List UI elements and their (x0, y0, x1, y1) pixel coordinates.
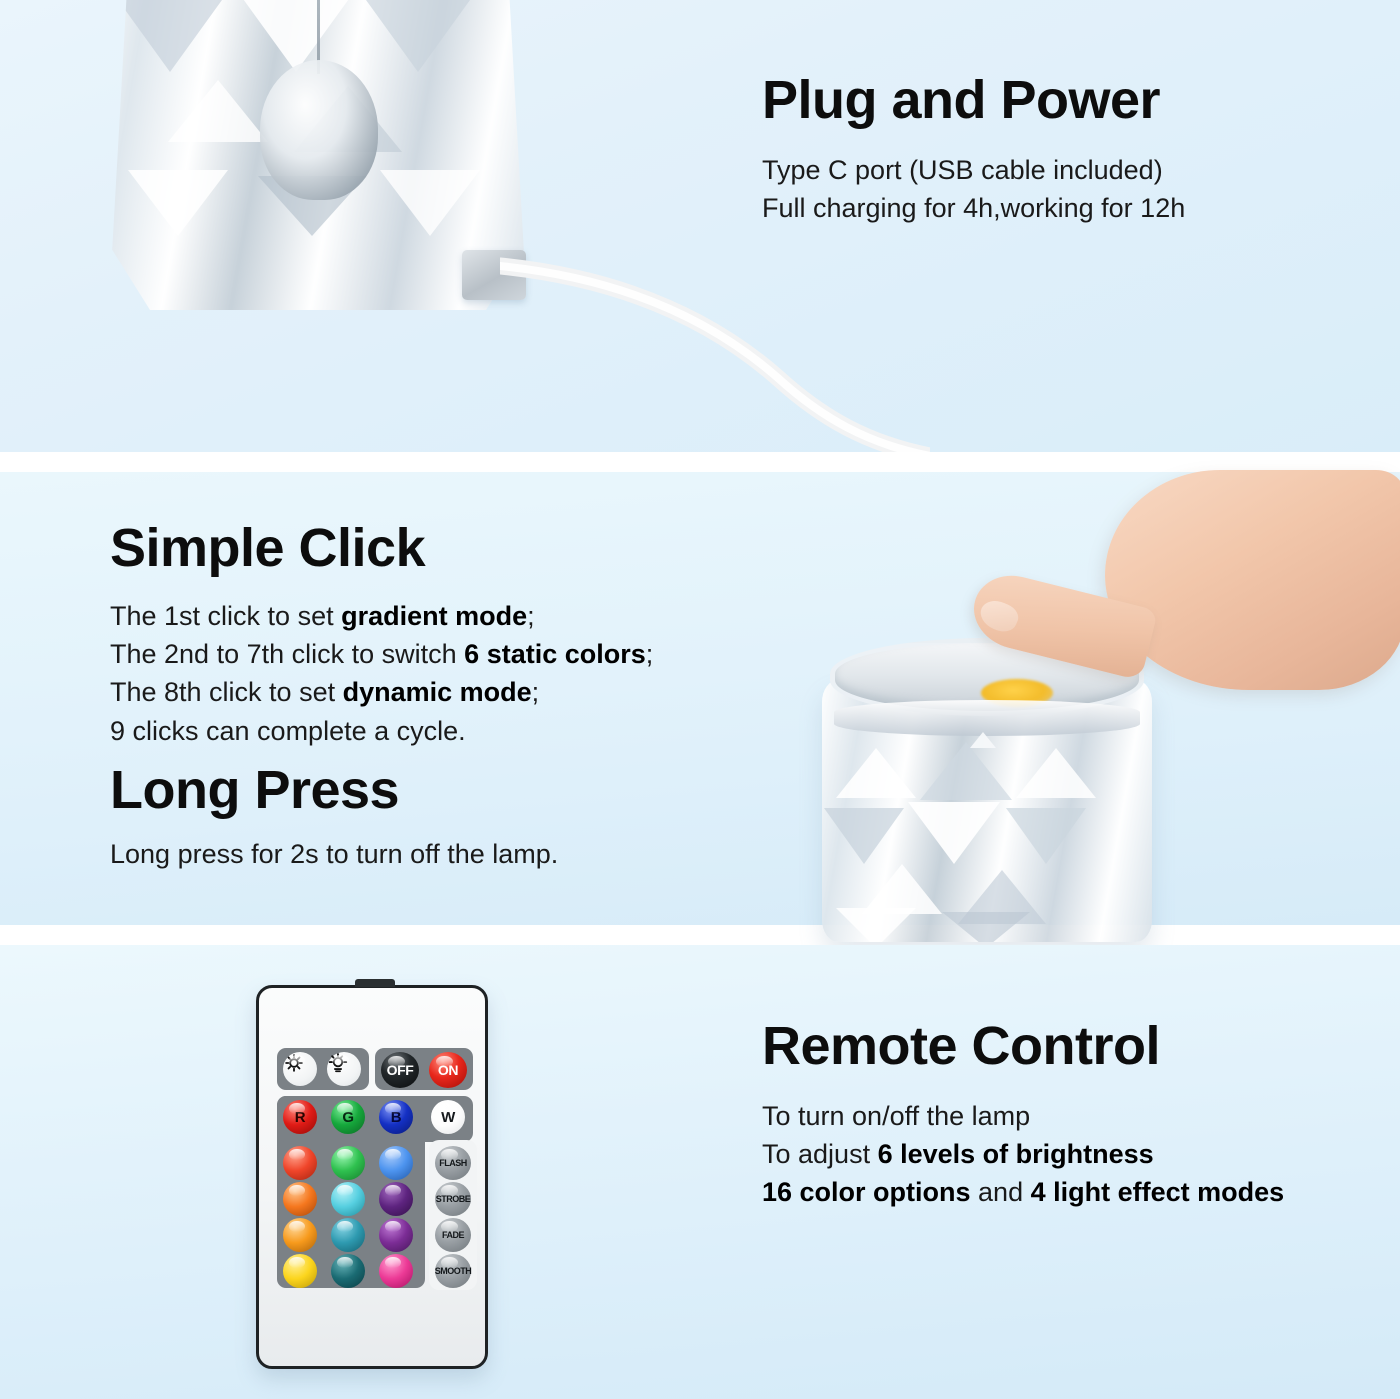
remote-line-3-bold-1: 16 color options (762, 1177, 971, 1207)
long-press-heading: Long Press (110, 762, 558, 819)
click-line-2-bold: 6 static colors (464, 639, 646, 669)
click-line-1-post: ; (527, 601, 535, 631)
color-button-green-g[interactable]: G (331, 1100, 365, 1134)
color-button-dark-purple[interactable] (379, 1182, 413, 1216)
strobe-label: STROBE (435, 1182, 471, 1216)
remote-line-3-mid: and (971, 1177, 1031, 1207)
fade-label: FADE (435, 1218, 471, 1252)
color-label-r: R (283, 1100, 317, 1134)
power-off-button[interactable]: OFF (381, 1052, 419, 1088)
color-button-purple[interactable] (379, 1218, 413, 1252)
effect-button-fade[interactable]: FADE (435, 1218, 471, 1252)
lamp-collar (834, 700, 1140, 736)
color-button-cyan[interactable] (331, 1182, 365, 1216)
click-line-3-pre: The 8th click to set (110, 677, 343, 707)
lamp-indicator-notch (970, 732, 996, 748)
usb-cable (500, 252, 930, 452)
effect-button-flash[interactable]: FLASH (435, 1146, 471, 1180)
lamp-touch-image (812, 638, 1164, 938)
plug-text-block: Plug and Power Type C port (USB cable in… (762, 72, 1185, 227)
click-line-1-bold: gradient mode (341, 601, 527, 631)
panel-plug-and-power: Plug and Power Type C port (USB cable in… (0, 0, 1400, 452)
remote-line-2-bold: 6 levels of brightness (878, 1139, 1154, 1169)
color-button-white-w[interactable]: W (431, 1100, 465, 1134)
plug-heading: Plug and Power (762, 72, 1185, 129)
remote-line-3-bold-2: 4 light effect modes (1031, 1177, 1285, 1207)
remote-line-2: To adjust 6 levels of brightness (762, 1135, 1284, 1173)
color-label-b: B (379, 1100, 413, 1134)
click-line-4: 9 clicks can complete a cycle. (110, 712, 653, 750)
remote-text-block: Remote Control To turn on/off the lamp T… (762, 1018, 1284, 1212)
remote-heading: Remote Control (762, 1018, 1284, 1075)
ir-emitter (355, 979, 395, 987)
click-line-2: The 2nd to 7th click to switch 6 static … (110, 635, 653, 673)
color-button-light-green[interactable] (331, 1146, 365, 1180)
smooth-label: SMOOTH (435, 1254, 471, 1288)
lamp-inner-bulb (260, 60, 378, 200)
long-press-line: Long press for 2s to turn off the lamp. (110, 835, 558, 873)
color-label-w: W (431, 1100, 465, 1134)
remote-control-device[interactable]: OFF ON R G B W FLASH (256, 985, 488, 1369)
click-line-2-post: ; (646, 639, 654, 669)
color-button-red-orange[interactable] (283, 1146, 317, 1180)
plug-line-2: Full charging for 4h,working for 12h (762, 189, 1185, 227)
click-line-2-pre: The 2nd to 7th click to switch (110, 639, 464, 669)
effect-button-strobe[interactable]: STROBE (435, 1182, 471, 1216)
color-button-light-blue[interactable] (379, 1146, 413, 1180)
power-on-button[interactable]: ON (429, 1052, 467, 1088)
simple-click-heading: Simple Click (110, 520, 653, 577)
color-button-teal-blue[interactable] (331, 1218, 365, 1252)
color-button-blue-b[interactable]: B (379, 1100, 413, 1134)
long-press-text-block: Long Press Long press for 2s to turn off… (110, 762, 558, 873)
click-line-3: The 8th click to set dynamic mode; (110, 673, 653, 711)
brightness-up-button[interactable] (327, 1052, 361, 1086)
click-line-3-bold: dynamic mode (343, 677, 532, 707)
click-line-1: The 1st click to set gradient mode; (110, 597, 653, 635)
color-button-dark-teal[interactable] (331, 1254, 365, 1288)
on-label: ON (429, 1052, 467, 1088)
remote-line-2-pre: To adjust (762, 1139, 878, 1169)
color-button-orange[interactable] (283, 1182, 317, 1216)
effect-button-smooth[interactable]: SMOOTH (435, 1254, 471, 1288)
color-label-g: G (331, 1100, 365, 1134)
off-label: OFF (381, 1052, 419, 1088)
hand-image (1105, 470, 1400, 690)
remote-line-1: To turn on/off the lamp (762, 1097, 1284, 1135)
plug-line-1: Type C port (USB cable included) (762, 151, 1185, 189)
color-button-pink[interactable] (379, 1254, 413, 1288)
click-line-3-post: ; (532, 677, 540, 707)
color-button-red-r[interactable]: R (283, 1100, 317, 1134)
color-button-amber[interactable] (283, 1218, 317, 1252)
simple-click-text-block: Simple Click The 1st click to set gradie… (110, 520, 653, 750)
flash-label: FLASH (435, 1146, 471, 1180)
product-infographic: Plug and Power Type C port (USB cable in… (0, 0, 1400, 1399)
remote-line-3: 16 color options and 4 light effect mode… (762, 1173, 1284, 1211)
click-line-1-pre: The 1st click to set (110, 601, 341, 631)
color-button-yellow[interactable] (283, 1254, 317, 1288)
brightness-down-button[interactable] (283, 1052, 317, 1086)
